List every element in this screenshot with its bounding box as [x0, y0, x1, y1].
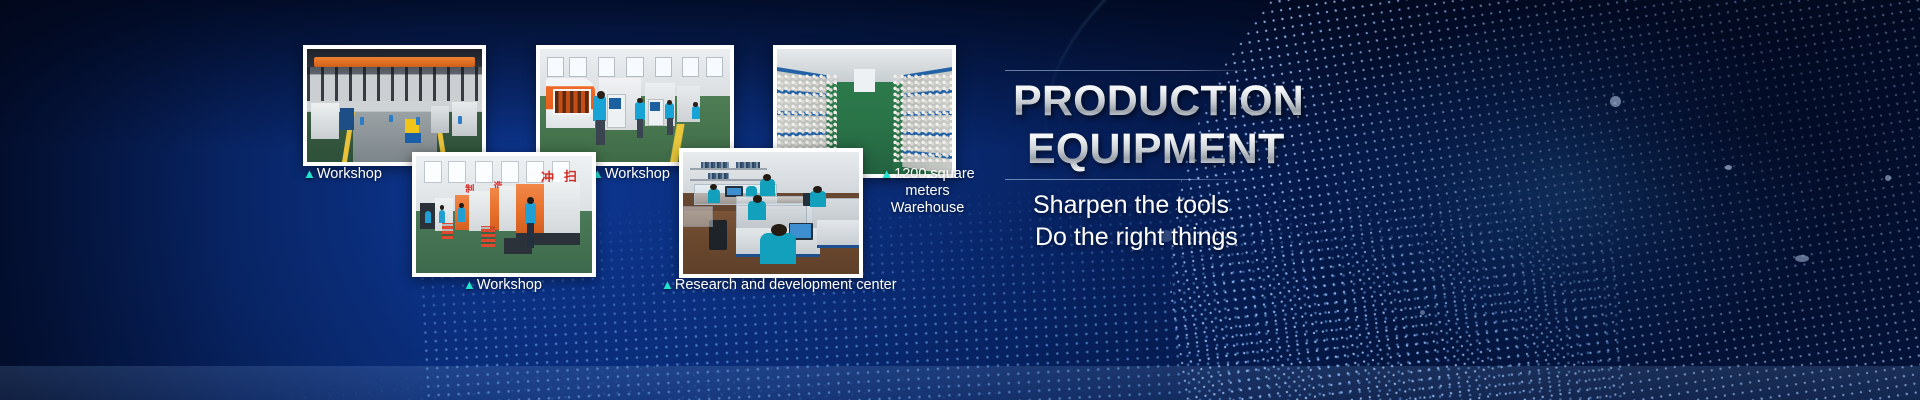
- production-equipment-banner: ▲Workshop: [0, 0, 1920, 400]
- headline-line-1: PRODUCTION: [1013, 77, 1525, 125]
- sparkle-dot: [1885, 175, 1891, 181]
- divider-top: [1005, 70, 1255, 71]
- photo-machining-centers: 制 造 冲 扫: [416, 156, 592, 273]
- triangle-bullet-icon: ▲: [303, 166, 316, 181]
- caption-warehouse: ▲1200 square metersWarehouse: [860, 165, 995, 217]
- subtitle-line-1: Sharpen the tools: [1033, 189, 1525, 221]
- triangle-bullet-icon: ▲: [463, 277, 476, 292]
- caption-text: Research and development center: [675, 277, 897, 293]
- sparkle-dot: [1725, 165, 1732, 170]
- subtitle-line-2: Do the right things: [1033, 221, 1525, 253]
- sparkle-dot: [1795, 255, 1809, 262]
- caption-text: Workshop: [477, 277, 542, 293]
- caption-workshop-2: ▲Workshop: [591, 165, 670, 183]
- caption-text-line1: 1200 square meters: [894, 166, 975, 199]
- photo-cnc-line: [540, 49, 730, 162]
- headline-block: PRODUCTION EQUIPMENT Sharpen the tools D…: [1005, 70, 1525, 253]
- divider-bottom: [1005, 179, 1253, 180]
- photo-workshop-hall: [307, 49, 482, 162]
- caption-text-line2: Warehouse: [891, 200, 965, 216]
- caption-workshop-3: ▲Workshop: [463, 276, 542, 294]
- photo-rd-office: [683, 152, 859, 274]
- caption-text: Workshop: [317, 166, 382, 182]
- gallery-photo-rd-center[interactable]: [679, 148, 863, 278]
- caption-workshop-1: ▲Workshop: [303, 165, 382, 183]
- sparkle-dot: [1420, 310, 1425, 315]
- headline-line-2: EQUIPMENT: [1027, 125, 1525, 173]
- gallery-photo-workshop-3[interactable]: 制 造 冲 扫: [412, 152, 596, 277]
- bottom-haze-band: [0, 366, 1920, 400]
- triangle-bullet-icon: ▲: [661, 277, 674, 292]
- caption-rd-center: ▲Research and development center: [661, 276, 897, 294]
- triangle-bullet-icon: ▲: [880, 166, 893, 181]
- sparkle-dot: [1610, 96, 1621, 107]
- gallery-photo-workshop-1[interactable]: [303, 45, 486, 166]
- caption-text: Workshop: [605, 166, 670, 182]
- subtitle-block: Sharpen the tools Do the right things: [1005, 189, 1525, 253]
